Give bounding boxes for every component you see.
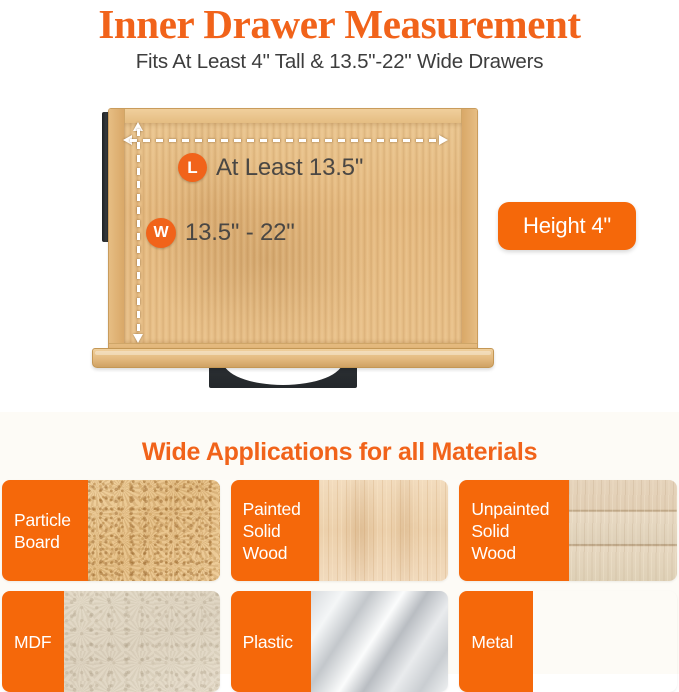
material-card: Plastic (231, 591, 449, 692)
width-badge-icon: W (146, 218, 176, 248)
material-card-label: MDF (2, 591, 64, 692)
materials-section: Wide Applications for all Materials Part… (0, 412, 679, 674)
width-measurement-guide (137, 122, 140, 343)
length-dimension-text: At Least 13.5" (216, 154, 363, 182)
material-card: Unpainted Solid Wood (459, 480, 677, 581)
material-card: Particle Board (2, 480, 220, 581)
material-label-line: Wood (243, 542, 307, 564)
material-swatch-particle-board (88, 480, 220, 581)
drawer-wall-top (109, 109, 477, 124)
width-dimension-text: 13.5" - 22" (185, 219, 295, 247)
height-callout-badge: Height 4" (498, 202, 636, 250)
material-swatch-metal (533, 591, 677, 692)
drawer-wall-left (109, 109, 125, 354)
measurement-section: Inner Drawer Measurement Fits At Least 4… (0, 0, 679, 412)
material-card-label: Particle Board (2, 480, 88, 581)
material-label-line: Particle (14, 509, 76, 531)
material-label-line: Solid (471, 520, 557, 542)
material-label-line: Metal (471, 631, 521, 653)
material-card-label: Painted Solid Wood (231, 480, 319, 581)
material-card: Painted Solid Wood (231, 480, 449, 581)
dashed-line (137, 129, 140, 336)
material-label-line: Painted (243, 498, 307, 520)
material-card: MDF (2, 591, 220, 692)
arrow-down-icon (133, 334, 143, 343)
drawer-front-panel (92, 348, 494, 368)
material-label-line: Solid (243, 520, 307, 542)
material-swatch-painted-solid-wood (319, 480, 449, 581)
drawer-wall-right (461, 109, 477, 354)
material-card-label: Plastic (231, 591, 311, 692)
length-dimension-label: L At Least 13.5" (178, 153, 363, 182)
material-label-line: Plastic (243, 631, 299, 653)
product-infographic: Inner Drawer Measurement Fits At Least 4… (0, 0, 679, 674)
page-subtitle: Fits At Least 4" Tall & 13.5"-22" Wide D… (0, 48, 679, 76)
material-card: Metal (459, 591, 677, 692)
page-title: Inner Drawer Measurement (0, 0, 679, 48)
material-label-line: Unpainted (471, 498, 557, 520)
drawer-illustration: L At Least 13.5" W 13.5" - 22" (86, 100, 486, 380)
materials-section-title: Wide Applications for all Materials (0, 436, 679, 468)
length-measurement-guide (123, 139, 448, 142)
dashed-line (130, 139, 441, 142)
material-swatch-plastic (311, 591, 449, 692)
material-label-line: Wood (471, 542, 557, 564)
material-card-label: Metal (459, 591, 533, 692)
length-badge-icon: L (178, 153, 207, 182)
arrow-right-icon (439, 135, 448, 145)
material-card-label: Unpainted Solid Wood (459, 480, 569, 581)
material-label-line: MDF (14, 631, 52, 653)
material-swatch-mdf (64, 591, 220, 692)
material-swatch-unpainted-solid-wood (569, 480, 677, 581)
width-dimension-label: W 13.5" - 22" (146, 218, 295, 248)
material-label-line: Board (14, 531, 76, 553)
materials-card-grid: Particle Board Painted Solid Wood Unpain… (2, 480, 677, 692)
